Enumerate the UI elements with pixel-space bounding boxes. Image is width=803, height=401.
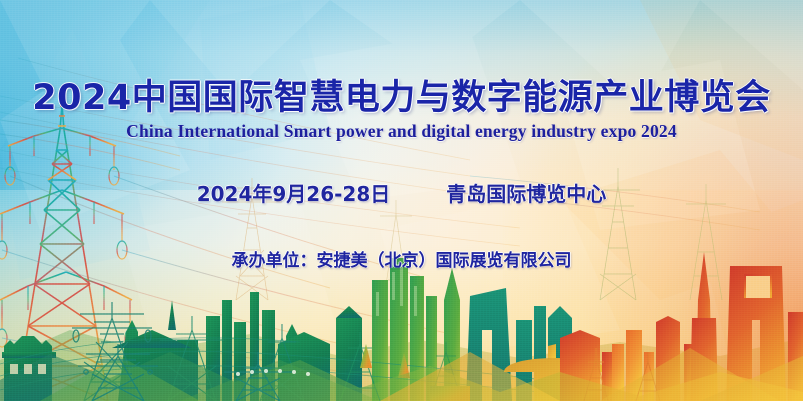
expo-banner: 2024中国国际智慧电力与数字能源产业博览会 China Internation…: [0, 0, 803, 401]
event-info-line: 2024年9月26-28日青岛国际博览中心: [0, 180, 803, 208]
text-layer: 2024中国国际智慧电力与数字能源产业博览会 China Internation…: [0, 0, 803, 401]
event-date: 2024年9月26-28日: [197, 182, 391, 206]
event-venue: 青岛国际博览中心: [446, 182, 606, 206]
event-organizer: 承办单位：安捷美（北京）国际展览有限公司: [0, 249, 803, 273]
page-title-chinese: 2024中国国际智慧电力与数字能源产业博览会: [0, 78, 803, 118]
page-subtitle-english: China International Smart power and digi…: [0, 120, 803, 142]
